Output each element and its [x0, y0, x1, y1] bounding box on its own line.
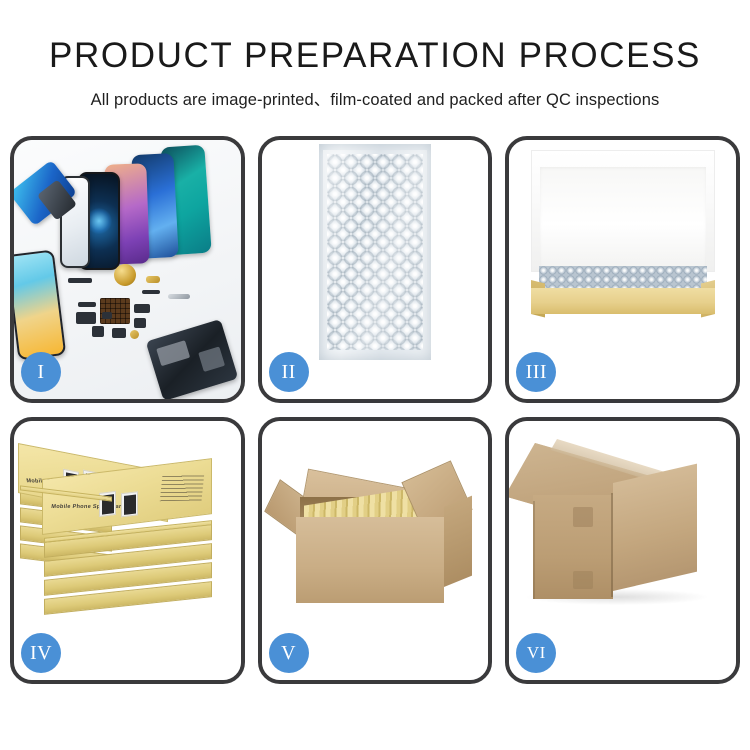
step-badge-4: IV: [21, 633, 61, 673]
spare-parts-cluster: [72, 268, 192, 358]
step-4-image-stacked-boxes: Mobile Phone Spare Parts Mobile Phone Sp…: [14, 421, 241, 680]
page-subtitle: All products are image-printed、film-coat…: [0, 76, 750, 110]
part-gold-connector: [146, 276, 160, 283]
part-chip-array: [100, 298, 130, 324]
process-step-panel-3[interactable]: III: [505, 136, 740, 403]
process-step-panel-2[interactable]: II: [258, 136, 493, 403]
step-5-image-open-carton: V: [262, 421, 489, 680]
stack-box-thumb-front-2: [121, 491, 138, 517]
page-root: PRODUCT PREPARATION PROCESS All products…: [0, 0, 750, 750]
process-step-panel-6[interactable]: VI: [505, 417, 740, 684]
bubble-wrap-bubbles: [327, 154, 423, 350]
header: PRODUCT PREPARATION PROCESS All products…: [0, 0, 750, 110]
part-screw: [130, 330, 139, 339]
part-speaker-round: [114, 264, 136, 286]
part-sim-tray: [92, 326, 104, 337]
part-earpiece: [68, 278, 92, 283]
carton-right-face: [444, 496, 472, 587]
phone-large-display: [14, 249, 66, 360]
mailer-box-front-panel: [531, 288, 715, 314]
step-badge-3: III: [516, 352, 556, 392]
sealed-carton-seam-center: [611, 493, 613, 597]
step-2-image-bubble-wrap: II: [262, 140, 489, 399]
stack-box-speclines-front: [160, 474, 204, 501]
process-step-panel-4[interactable]: Mobile Phone Spare Parts Mobile Phone Sp…: [10, 417, 245, 684]
part-camera-module: [76, 312, 96, 324]
part-charging-port: [112, 328, 126, 338]
part-button-set: [134, 318, 146, 328]
step-badge-6: VI: [516, 633, 556, 673]
page-title: PRODUCT PREPARATION PROCESS: [0, 0, 750, 76]
sealed-carton-tab-lower: [573, 571, 593, 589]
part-sensor: [102, 312, 112, 319]
mailer-box-lid-inner: [540, 167, 706, 271]
sealed-carton-tab-upper: [573, 507, 593, 527]
step-3-image-open-mailer-box: III: [509, 140, 736, 399]
part-silver-bracket: [168, 294, 190, 299]
step-badge-5: V: [269, 633, 309, 673]
step-badge-2: II: [269, 352, 309, 392]
process-step-panel-1[interactable]: I: [10, 136, 245, 403]
carton-front-face: [296, 517, 444, 603]
step-badge-1: I: [21, 352, 61, 392]
process-step-panel-5[interactable]: V: [258, 417, 493, 684]
step-1-image-phones-and-parts: I: [14, 140, 241, 399]
part-antenna-strip: [78, 302, 96, 307]
mailer-box-lid: [531, 150, 715, 272]
process-step-grid: I II III: [10, 136, 740, 684]
part-vibrator: [134, 304, 150, 313]
sealed-carton-seam-left: [533, 501, 535, 599]
part-flex-cable: [142, 290, 160, 294]
sealed-carton-right-face: [613, 464, 697, 591]
step-6-image-sealed-carton: VI: [509, 421, 736, 680]
